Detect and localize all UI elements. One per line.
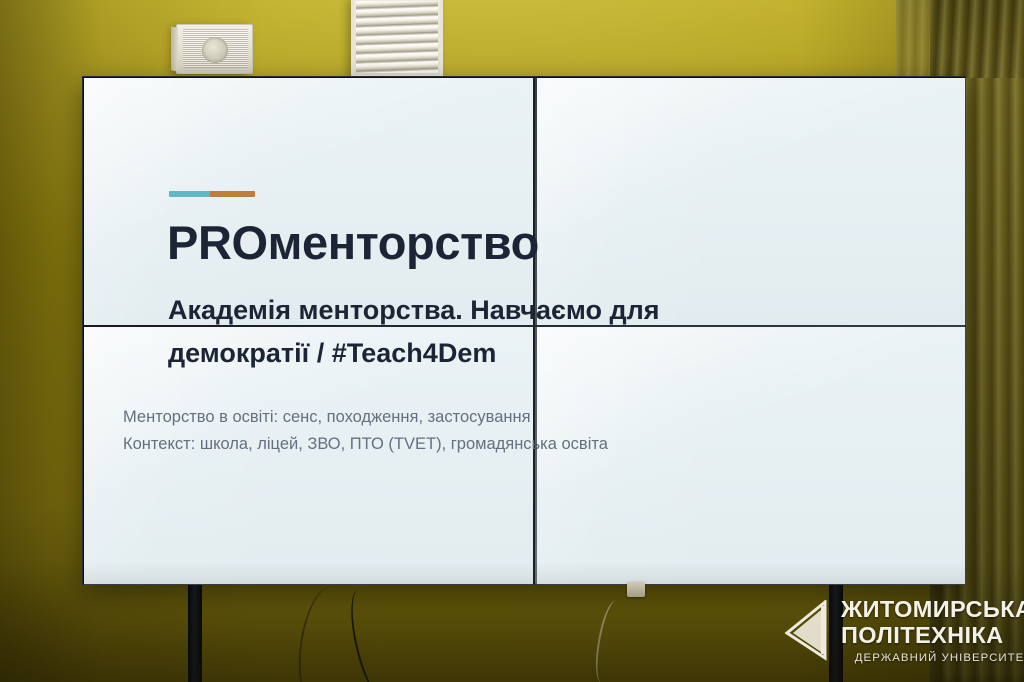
logo-line-3: ДЕРЖАВНИЙ УНІВЕРСИТЕТ bbox=[841, 653, 1024, 664]
ventilation-grille bbox=[351, 0, 443, 78]
video-wall-display[interactable]: PROменторство Академія менторства. Навча… bbox=[82, 76, 966, 585]
display-panel-top-right bbox=[535, 78, 966, 325]
room-scene: PROменторство Академія менторства. Навча… bbox=[0, 0, 1024, 682]
bezel-seam-vertical bbox=[535, 76, 537, 585]
bezel-seam-horizontal bbox=[82, 325, 966, 327]
vent-slats bbox=[356, 1, 438, 73]
display-panel-top-left bbox=[84, 78, 533, 325]
logo-line-1: ЖИТОМИРСЬКА bbox=[841, 598, 1024, 622]
university-logo: ЖИТОМИРСЬКА ПОЛІТЕХНІКА ДЕРЖАВНИЙ УНІВЕР… bbox=[781, 594, 1019, 668]
speaker-cone bbox=[202, 37, 228, 63]
display-panel-bottom-right bbox=[535, 327, 966, 585]
curtain-header bbox=[930, 0, 1024, 78]
display-panel-bottom-left bbox=[84, 327, 533, 585]
display-stand-left bbox=[188, 585, 202, 682]
logo-line-2: ПОЛІТЕХНІКА bbox=[841, 624, 1024, 648]
power-outlet bbox=[627, 582, 645, 597]
logo-wordmark: ЖИТОМИРСЬКА ПОЛІТЕХНІКА ДЕРЖАВНИЙ УНІВЕР… bbox=[841, 598, 1024, 664]
panel-grid bbox=[84, 78, 964, 583]
logo-triangle-icon bbox=[781, 600, 833, 662]
wall-speaker bbox=[176, 24, 253, 74]
speaker-side-panel bbox=[171, 26, 178, 71]
